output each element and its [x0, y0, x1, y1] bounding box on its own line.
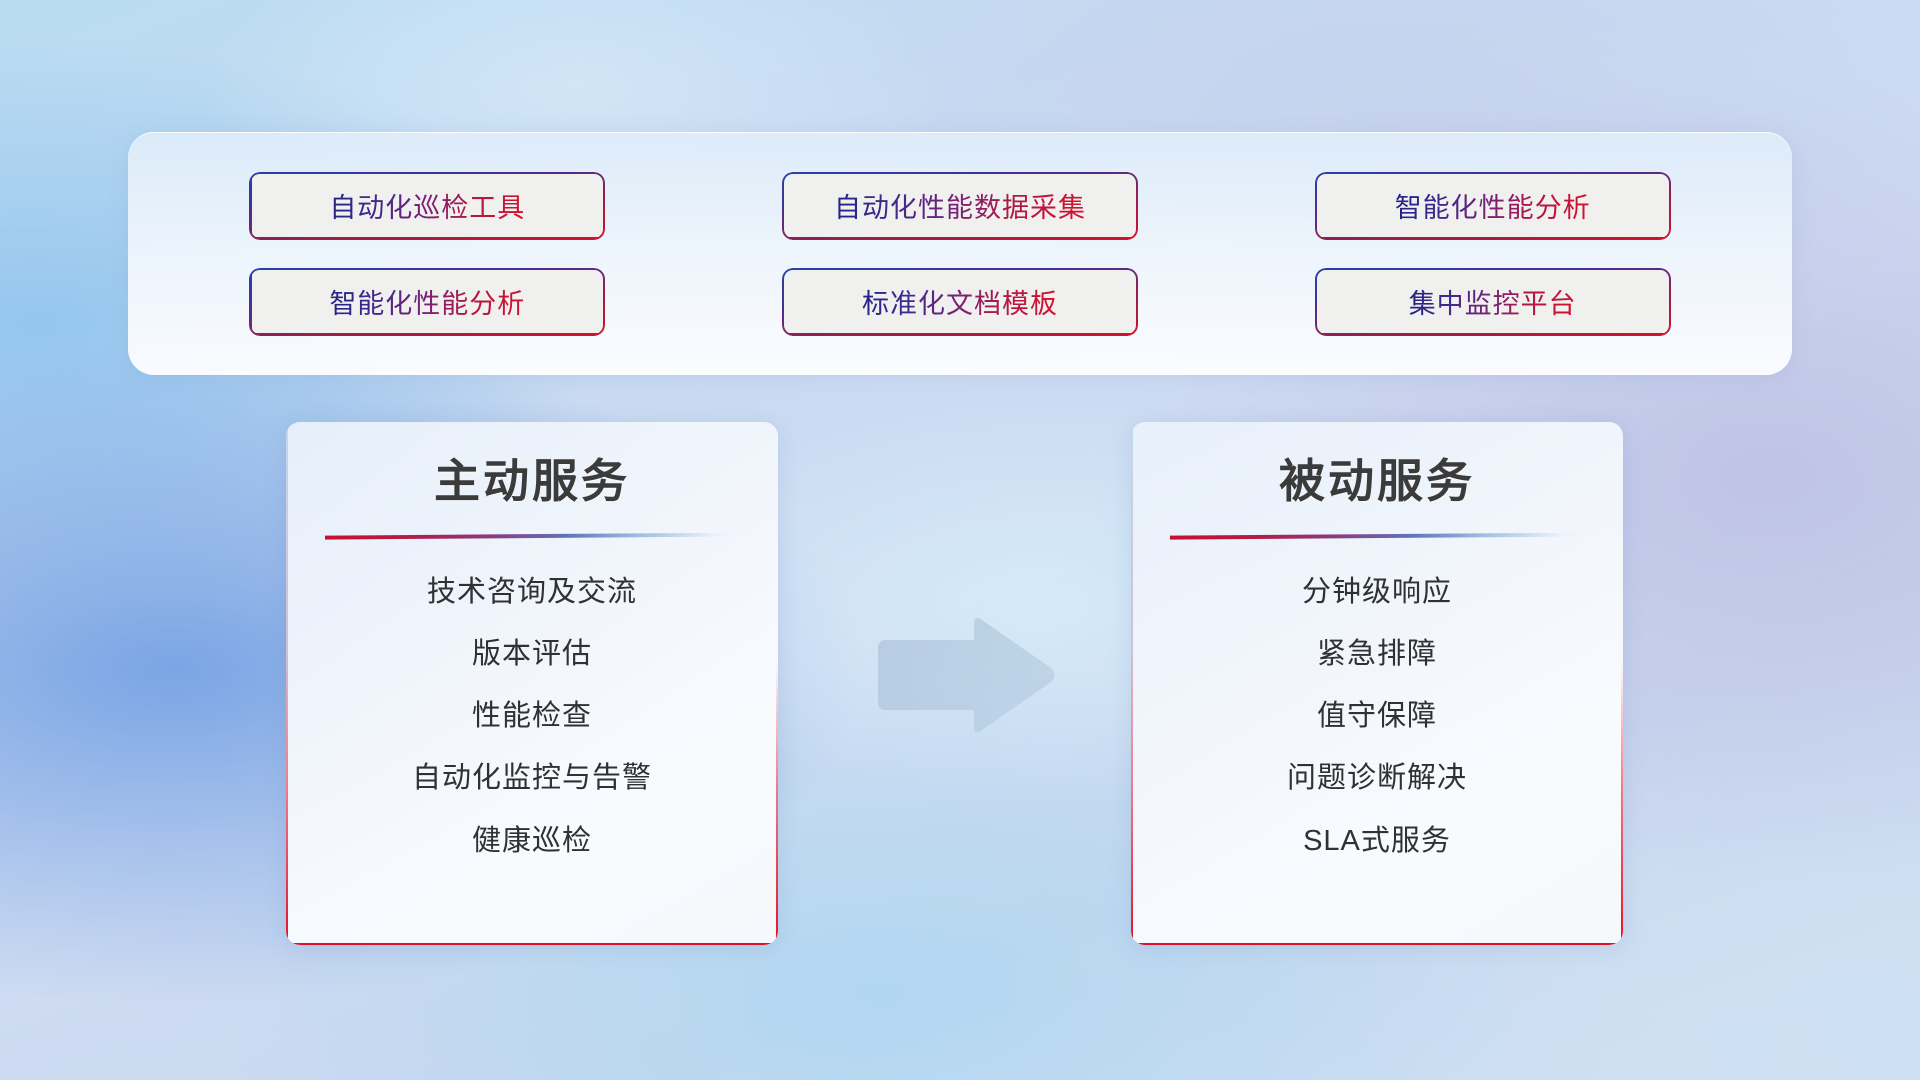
capability-panel: 自动化巡检工具 自动化性能数据采集 智能化性能分析 智能化性能分析 标准化文档模…: [128, 132, 1792, 375]
capability-pill-label: 自动化巡检工具: [329, 186, 525, 225]
service-list-reactive: 分钟级响应 紧急排障 值守保障 问题诊断解决 SLA式服务: [1157, 574, 1597, 859]
capability-pill-intelligent-performance-analysis-top[interactable]: 智能化性能分析: [1315, 172, 1671, 240]
capability-pill-label: 智能化性能分析: [1395, 186, 1591, 225]
card-accent-edge-right: [776, 663, 778, 945]
list-item: 版本评估: [472, 636, 592, 672]
capability-cell: 自动化巡检工具: [188, 172, 667, 240]
card-divider: [325, 533, 739, 540]
list-item: 问题诊断解决: [1287, 760, 1467, 796]
card-title-proactive: 主动服务: [434, 456, 630, 507]
capability-pill-label: 自动化性能数据采集: [834, 186, 1086, 225]
card-accent-edge-bottom: [286, 943, 778, 945]
list-item: 值守保障: [1317, 698, 1437, 734]
capability-pill-automated-performance-data-collection[interactable]: 自动化性能数据采集: [782, 172, 1138, 240]
card-accent-edge-left: [286, 422, 288, 945]
capability-cell: 自动化性能数据采集: [721, 172, 1200, 240]
service-card-reactive: 被动服务 分钟级响应 紧急排障 值守保障 问题诊断解决 SLA式服务: [1131, 422, 1623, 945]
capability-pill-automated-inspection-tool[interactable]: 自动化巡检工具: [249, 172, 605, 240]
list-item: 健康巡检: [472, 823, 592, 859]
capability-pill-label: 集中监控平台: [1409, 282, 1577, 321]
card-accent-edge-right: [1621, 663, 1623, 945]
card-divider: [1170, 533, 1584, 540]
list-item: 自动化监控与告警: [412, 760, 652, 796]
card-accent-edge-bottom: [1131, 943, 1623, 945]
service-card-proactive: 主动服务 技术咨询及交流 版本评估 性能检查 自动化监控与告警 健康巡检: [286, 422, 778, 945]
capability-pill-label: 智能化性能分析: [329, 282, 525, 321]
capability-pill-label: 标准化文档模板: [862, 282, 1058, 321]
capability-row-1: 自动化巡检工具 自动化性能数据采集 智能化性能分析: [188, 172, 1732, 240]
capability-row-2: 智能化性能分析 标准化文档模板 集中监控平台: [188, 268, 1732, 336]
arrow-right-icon: [870, 612, 1060, 738]
list-item: 技术咨询及交流: [427, 574, 637, 610]
card-title-reactive: 被动服务: [1279, 456, 1475, 507]
list-item: 性能检查: [472, 698, 592, 734]
service-list-proactive: 技术咨询及交流 版本评估 性能检查 自动化监控与告警 健康巡检: [312, 574, 752, 859]
card-accent-edge-left: [1131, 422, 1133, 945]
list-item: 分钟级响应: [1302, 574, 1452, 610]
capability-pill-standardized-doc-template[interactable]: 标准化文档模板: [782, 268, 1138, 336]
list-item: 紧急排障: [1317, 636, 1437, 672]
capability-cell: 集中监控平台: [1253, 268, 1732, 336]
capability-pill-centralized-monitoring-platform[interactable]: 集中监控平台: [1315, 268, 1671, 336]
list-item: SLA式服务: [1303, 823, 1451, 859]
capability-pill-intelligent-performance-analysis-bottom[interactable]: 智能化性能分析: [249, 268, 605, 336]
capability-cell: 智能化性能分析: [1253, 172, 1732, 240]
capability-cell: 智能化性能分析: [188, 268, 667, 336]
capability-cell: 标准化文档模板: [721, 268, 1200, 336]
